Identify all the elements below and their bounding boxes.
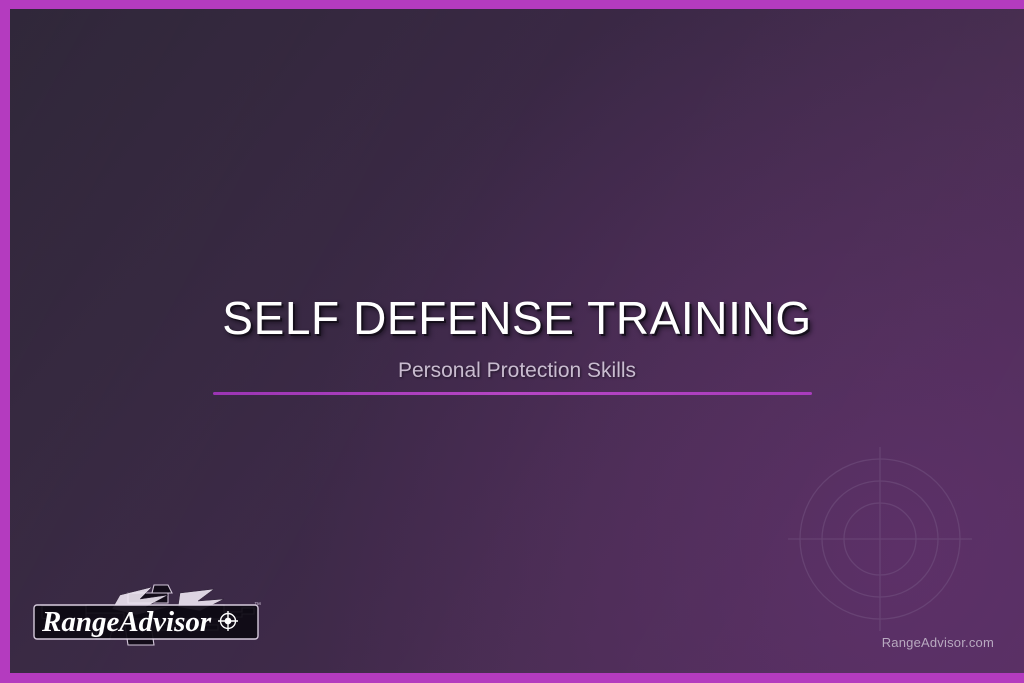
slide-subtitle: Personal Protection Skills — [10, 359, 1024, 383]
frame-border-top — [0, 0, 1024, 9]
frame-border-bottom — [0, 673, 1024, 683]
slide-title: SELF DEFENSE TRAINING — [10, 293, 1024, 344]
frame-border-left — [0, 0, 10, 683]
logo-wordmark-text: RangeAdvisor — [41, 606, 212, 638]
logo-tm-mark: ™ — [254, 602, 261, 609]
presentation-slide: SELF DEFENSE TRAINING Personal Protectio… — [0, 0, 1024, 683]
crosshair-target-decoration — [788, 447, 982, 641]
rangeadvisor-logo: RangeAdvisor ™ — [28, 569, 266, 661]
slide-background: SELF DEFENSE TRAINING Personal Protectio… — [10, 9, 1024, 673]
accent-divider — [213, 392, 812, 395]
crosshair-target-icon — [788, 447, 982, 641]
site-watermark: RangeAdvisor.com — [882, 635, 994, 650]
rangeadvisor-rifle-logo-icon: RangeAdvisor ™ — [28, 569, 266, 661]
